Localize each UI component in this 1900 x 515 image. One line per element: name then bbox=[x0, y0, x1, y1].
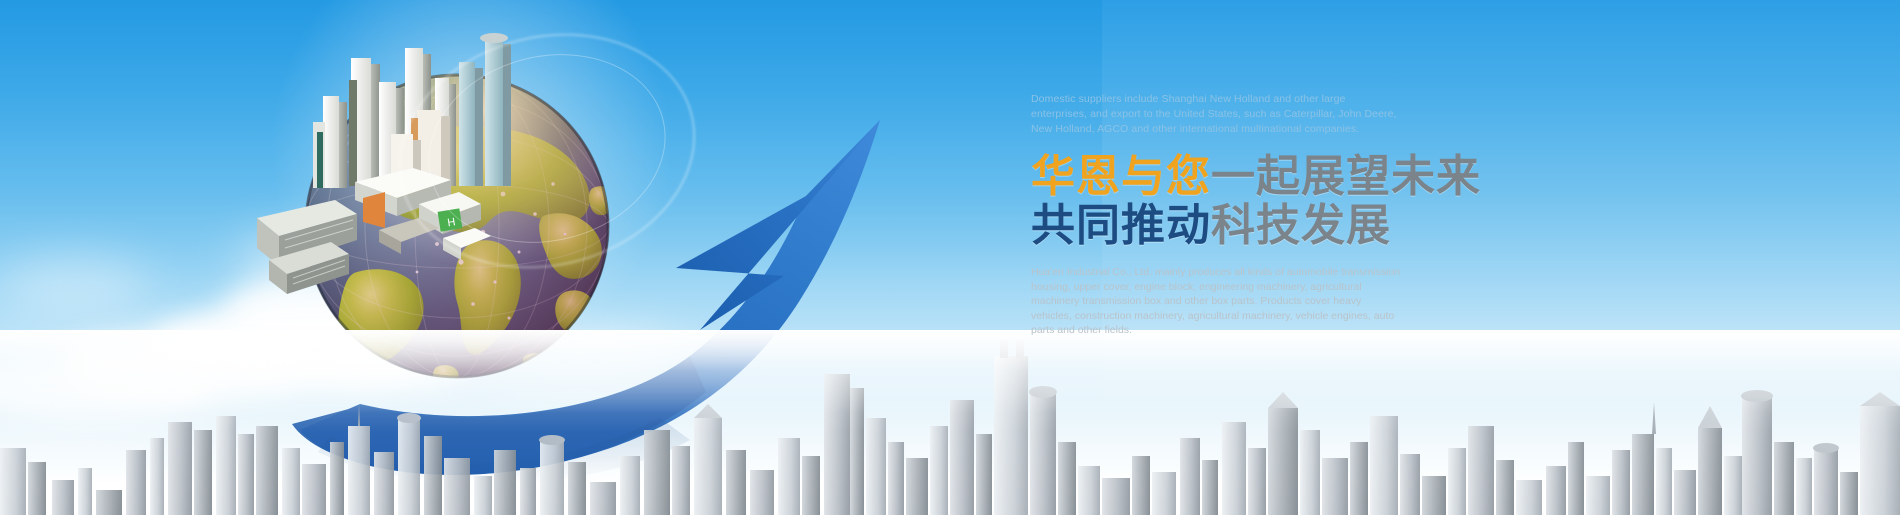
headline-line1-orange: 华恩与您 bbox=[1031, 151, 1211, 202]
headline-line2-gray: 科技发展 bbox=[1211, 200, 1391, 251]
eyebrow-text: Domestic suppliers include Shanghai New … bbox=[1031, 92, 1403, 137]
page-title: 华恩与您一起展望未来 共同推动科技发展 bbox=[1031, 153, 1481, 249]
banner-copy: Domestic suppliers include Shanghai New … bbox=[1031, 92, 1481, 338]
headline-line2-navy: 共同推动 bbox=[1031, 200, 1211, 251]
headline-line-1: 华恩与您一起展望未来 bbox=[1031, 153, 1481, 200]
headline-line1-gray: 一起展望未来 bbox=[1211, 151, 1481, 202]
headline-line-2: 共同推动科技发展 bbox=[1031, 202, 1481, 249]
city-skyline-icon bbox=[0, 330, 1900, 515]
company-description: Hua'en Industrial Co., Ltd. mainly produ… bbox=[1031, 265, 1403, 338]
side-buildings-icon bbox=[239, 174, 399, 324]
hero-banner: H bbox=[0, 0, 1900, 515]
